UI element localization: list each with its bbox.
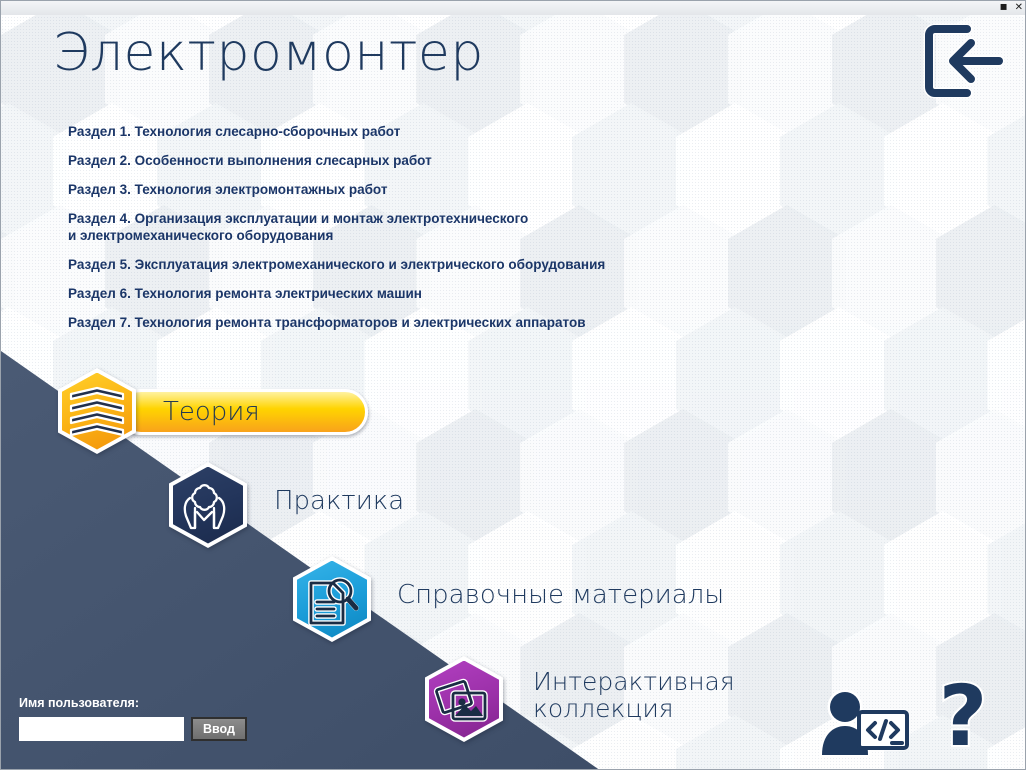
- menu-item-reference[interactable]: Справочные материалы: [293, 556, 743, 646]
- title-bar: ▪ ✕: [1, 1, 1026, 15]
- svg-text:?: ?: [939, 677, 988, 761]
- main-menu: Теория: [1, 1, 1025, 769]
- close-button[interactable]: ✕: [1015, 3, 1023, 13]
- application-window: ▪ ✕ Электромонтер Раздел 1. Технология с…: [0, 0, 1026, 770]
- developers-icon[interactable]: [817, 681, 913, 761]
- login-row: Ввод: [19, 717, 247, 741]
- window-controls: ▪ ✕: [999, 1, 1023, 15]
- menu-item-theory[interactable]: Теория: [58, 368, 318, 458]
- menu-label-practice: Практика: [274, 486, 404, 516]
- login-area: Имя пользователя: Ввод: [19, 696, 247, 741]
- exit-icon[interactable]: [921, 21, 1007, 101]
- books-icon[interactable]: [58, 368, 136, 454]
- menu-item-practice[interactable]: Практика: [169, 462, 469, 552]
- theory-pill[interactable]: Теория: [118, 389, 368, 435]
- photos-icon[interactable]: [425, 656, 503, 742]
- question-mark-icon[interactable]: ?: [925, 677, 1001, 761]
- hands-puzzle-icon[interactable]: [169, 462, 247, 548]
- document-search-icon[interactable]: [293, 556, 371, 642]
- username-label: Имя пользователя:: [19, 696, 247, 710]
- menu-label-reference: Справочные материалы: [397, 580, 724, 610]
- username-input[interactable]: [19, 717, 184, 741]
- menu-item-collection[interactable]: Интерактивная коллекция: [425, 656, 825, 746]
- menu-label-collection: Интерактивная коллекция: [533, 668, 735, 722]
- menu-label-theory: Теория: [121, 397, 260, 427]
- minimize-button[interactable]: ▪: [999, 1, 1007, 11]
- submit-button[interactable]: Ввод: [191, 717, 247, 741]
